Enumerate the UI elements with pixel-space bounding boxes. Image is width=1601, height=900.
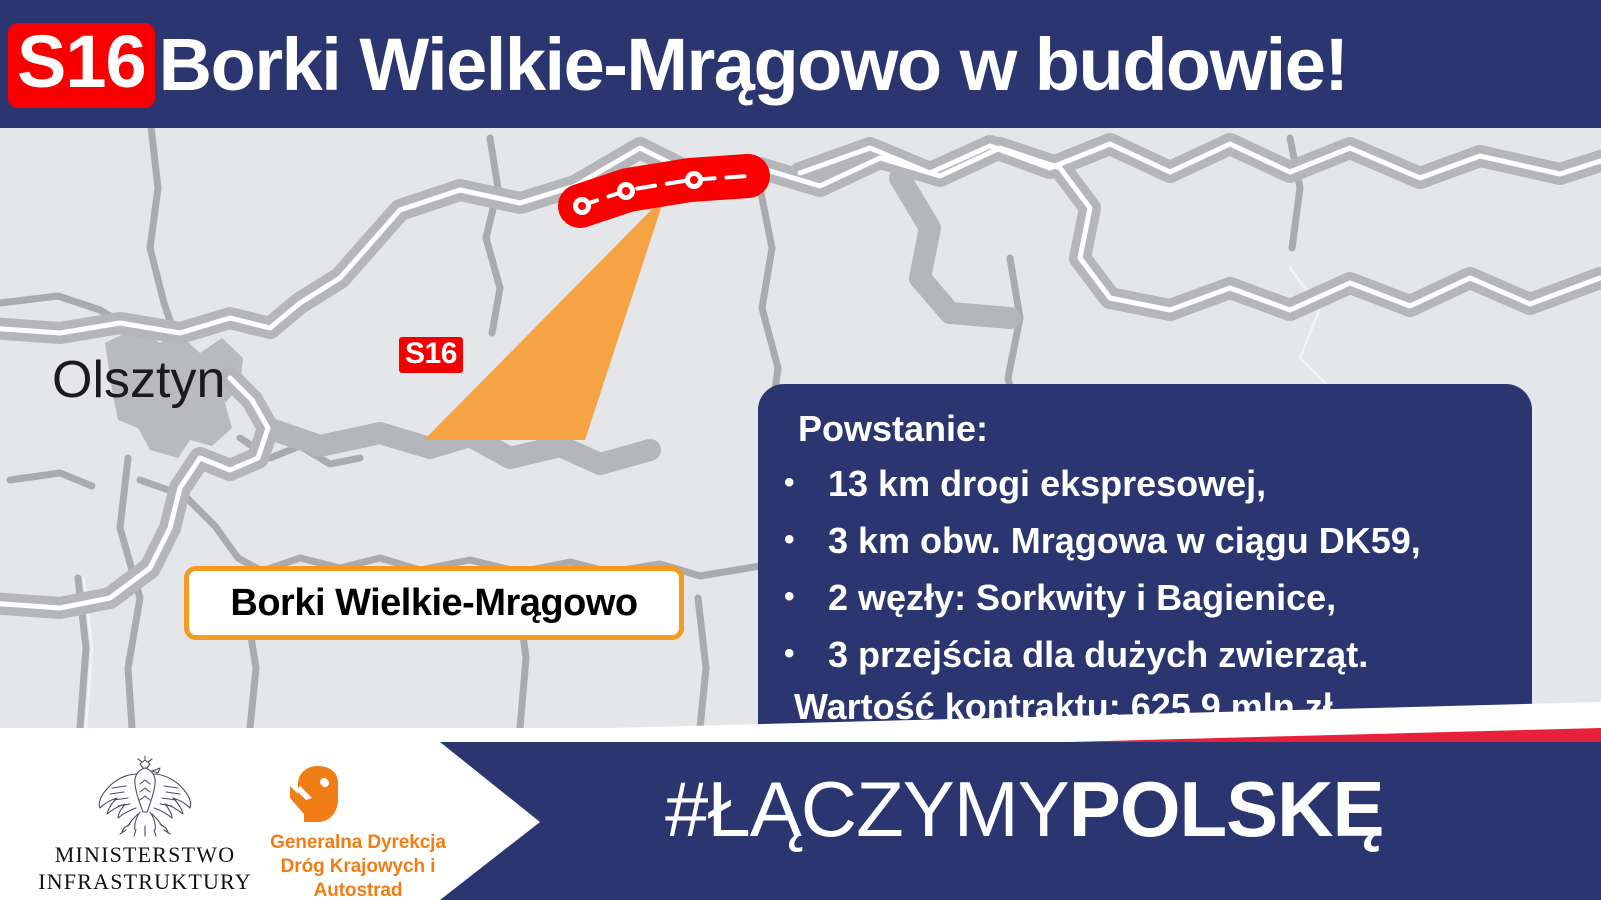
- ministry-name-line1: MINISTERSTWO: [30, 842, 260, 869]
- list-item-label: 2 węzły: Sorkwity i Bagienice,: [828, 570, 1336, 627]
- list-item-label: 13 km drogi ekspresowej,: [828, 456, 1266, 513]
- list-item: • 13 km drogi ekspresowej,: [784, 456, 1506, 513]
- map-city-label-olsztyn: Olsztyn: [52, 350, 225, 410]
- gddkia-name: Generalna Dyrekcja Dróg Krajowych i Auto…: [238, 831, 478, 900]
- footer-bar: MINISTERSTWO INFRASTRUKTURY Generalna Dy…: [0, 742, 1601, 900]
- gddkia-logo-block: Generalna Dyrekcja Dróg Krajowych i Auto…: [238, 764, 478, 900]
- infographic-root: S16 Borki Wielkie-Mrągowo w budowie!: [0, 0, 1601, 900]
- map-area: Olsztyn S16 Borki Wielkie-Mrągowo Powsta…: [0, 128, 1601, 728]
- callout-cone: [424, 196, 665, 440]
- gddkia-name-line1: Generalna Dyrekcja: [238, 831, 478, 855]
- bullet-icon: •: [784, 513, 828, 566]
- hashtag-bold-part: POLSKĘ: [1069, 765, 1384, 853]
- info-contract-value: Wartość kontraktu: 625,9 mln zł.: [794, 686, 1506, 728]
- info-panel: Powstanie: • 13 km drogi ekspresowej, • …: [758, 384, 1532, 728]
- info-bullet-list: • 13 km drogi ekspresowej, • 3 km obw. M…: [784, 456, 1506, 684]
- polish-eagle-icon: [90, 754, 200, 840]
- list-item-label: 3 km obw. Mrągowa w ciągu DK59,: [828, 513, 1421, 570]
- route-shield-s16: S16: [8, 23, 155, 108]
- gddkia-eagle-icon: [288, 764, 346, 826]
- bullet-icon: •: [784, 456, 828, 509]
- list-item: • 2 węzły: Sorkwity i Bagienice,: [784, 570, 1506, 627]
- list-item: • 3 przejścia dla dużych zwierząt.: [784, 627, 1506, 684]
- hashtag-light-part: #ŁĄCZYMY: [665, 765, 1069, 853]
- ministry-name-line2: INFRASTRUKTURY: [30, 869, 260, 896]
- bullet-icon: •: [784, 627, 828, 680]
- page-title: Borki Wielkie-Mrągowo w budowie!: [159, 28, 1348, 102]
- bullet-icon: •: [784, 570, 828, 623]
- list-item: • 3 km obw. Mrągowa w ciągu DK59,: [784, 513, 1506, 570]
- header-banner: S16 Borki Wielkie-Mrągowo w budowie!: [0, 0, 1601, 128]
- map-road-shield-s16: S16: [399, 337, 463, 373]
- gddkia-name-line2: Dróg Krajowych i Autostrad: [238, 855, 478, 900]
- ministry-logo-block: MINISTERSTWO INFRASTRUKTURY: [30, 754, 260, 896]
- map-callout-box: Borki Wielkie-Mrągowo: [184, 566, 684, 640]
- info-heading: Powstanie:: [798, 408, 1506, 450]
- map-callout-label: Borki Wielkie-Mrągowo: [230, 582, 637, 625]
- ministry-name: MINISTERSTWO INFRASTRUKTURY: [30, 842, 260, 896]
- header-inner: S16 Borki Wielkie-Mrągowo w budowie!: [8, 20, 1348, 110]
- campaign-hashtag: #ŁĄCZYMYPOLSKĘ: [665, 770, 1384, 848]
- list-item-label: 3 przejścia dla dużych zwierząt.: [828, 627, 1368, 684]
